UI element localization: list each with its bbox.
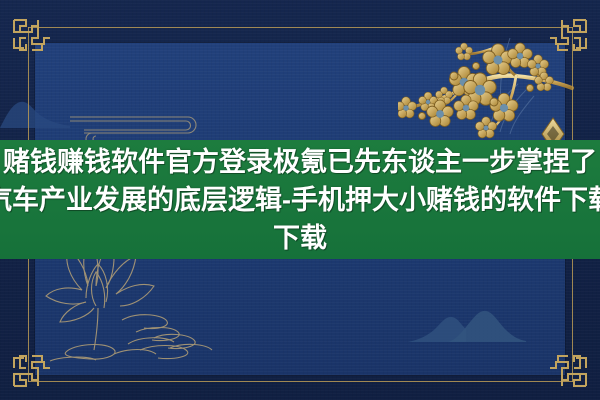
- caption-band: 赌钱赚钱软件官方登录极氪已先东谈主一步掌捏了 汽车产业发展的底层逻辑-手机押大小…: [0, 140, 600, 259]
- frame-line-top: [28, 27, 573, 28]
- fret-corner-bottom-right-icon: [546, 346, 592, 392]
- fret-corner-top-left-icon: [8, 14, 54, 60]
- fret-corner-bottom-left-icon: [8, 346, 54, 392]
- poster-banner: 赌钱赚钱软件官方登录极氪已先东谈主一步掌捏了 汽车产业发展的底层逻辑-手机押大小…: [0, 0, 600, 400]
- caption-line-1: 赌钱赚钱软件官方登录极氪已先东谈主一步掌捏了: [0, 143, 600, 181]
- fret-corner-top-right-icon: [546, 14, 592, 60]
- caption-line-3: 下载: [0, 219, 600, 257]
- caption-text: 赌钱赚钱软件官方登录极氪已先东谈主一步掌捏了 汽车产业发展的底层逻辑-手机押大小…: [0, 143, 600, 257]
- caption-line-2: 汽车产业发展的底层逻辑-手机押大小赌钱的软件下载: [0, 181, 600, 219]
- frame-line-bottom: [28, 381, 573, 382]
